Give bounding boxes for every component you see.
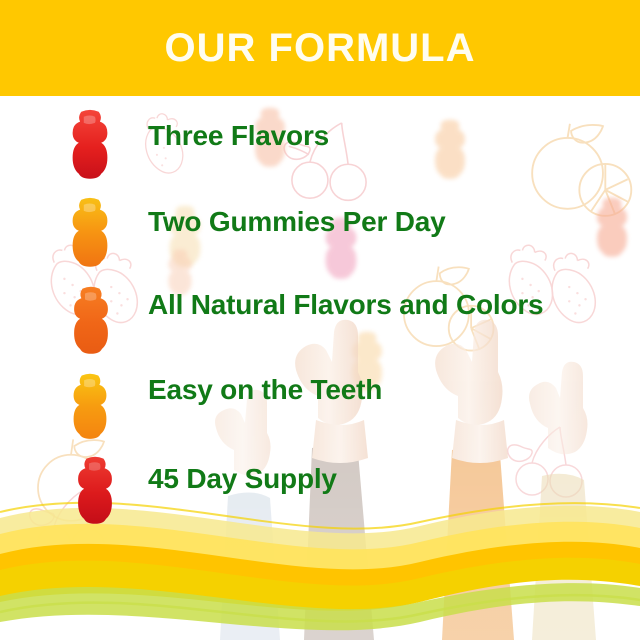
bullet-item-three-flavors: Three Flavors <box>148 122 329 150</box>
bullet-item-two-gummies-per-day: Two Gummies Per Day <box>148 208 446 236</box>
bullet-list: Three Flavors Two Gummies Per Day All Na… <box>0 96 640 640</box>
promo-graphic: Three Flavors Two Gummies Per Day All Na… <box>0 0 640 640</box>
bullet-item-45-day-supply: 45 Day Supply <box>148 465 337 493</box>
header-banner: OUR FORMULA <box>0 0 640 96</box>
bullet-item-easy-on-the-teeth: Easy on the Teeth <box>148 376 382 404</box>
bullet-item-all-natural-flavors-and-colors: All Natural Flavors and Colors <box>148 291 543 319</box>
page-title: OUR FORMULA <box>165 28 476 68</box>
